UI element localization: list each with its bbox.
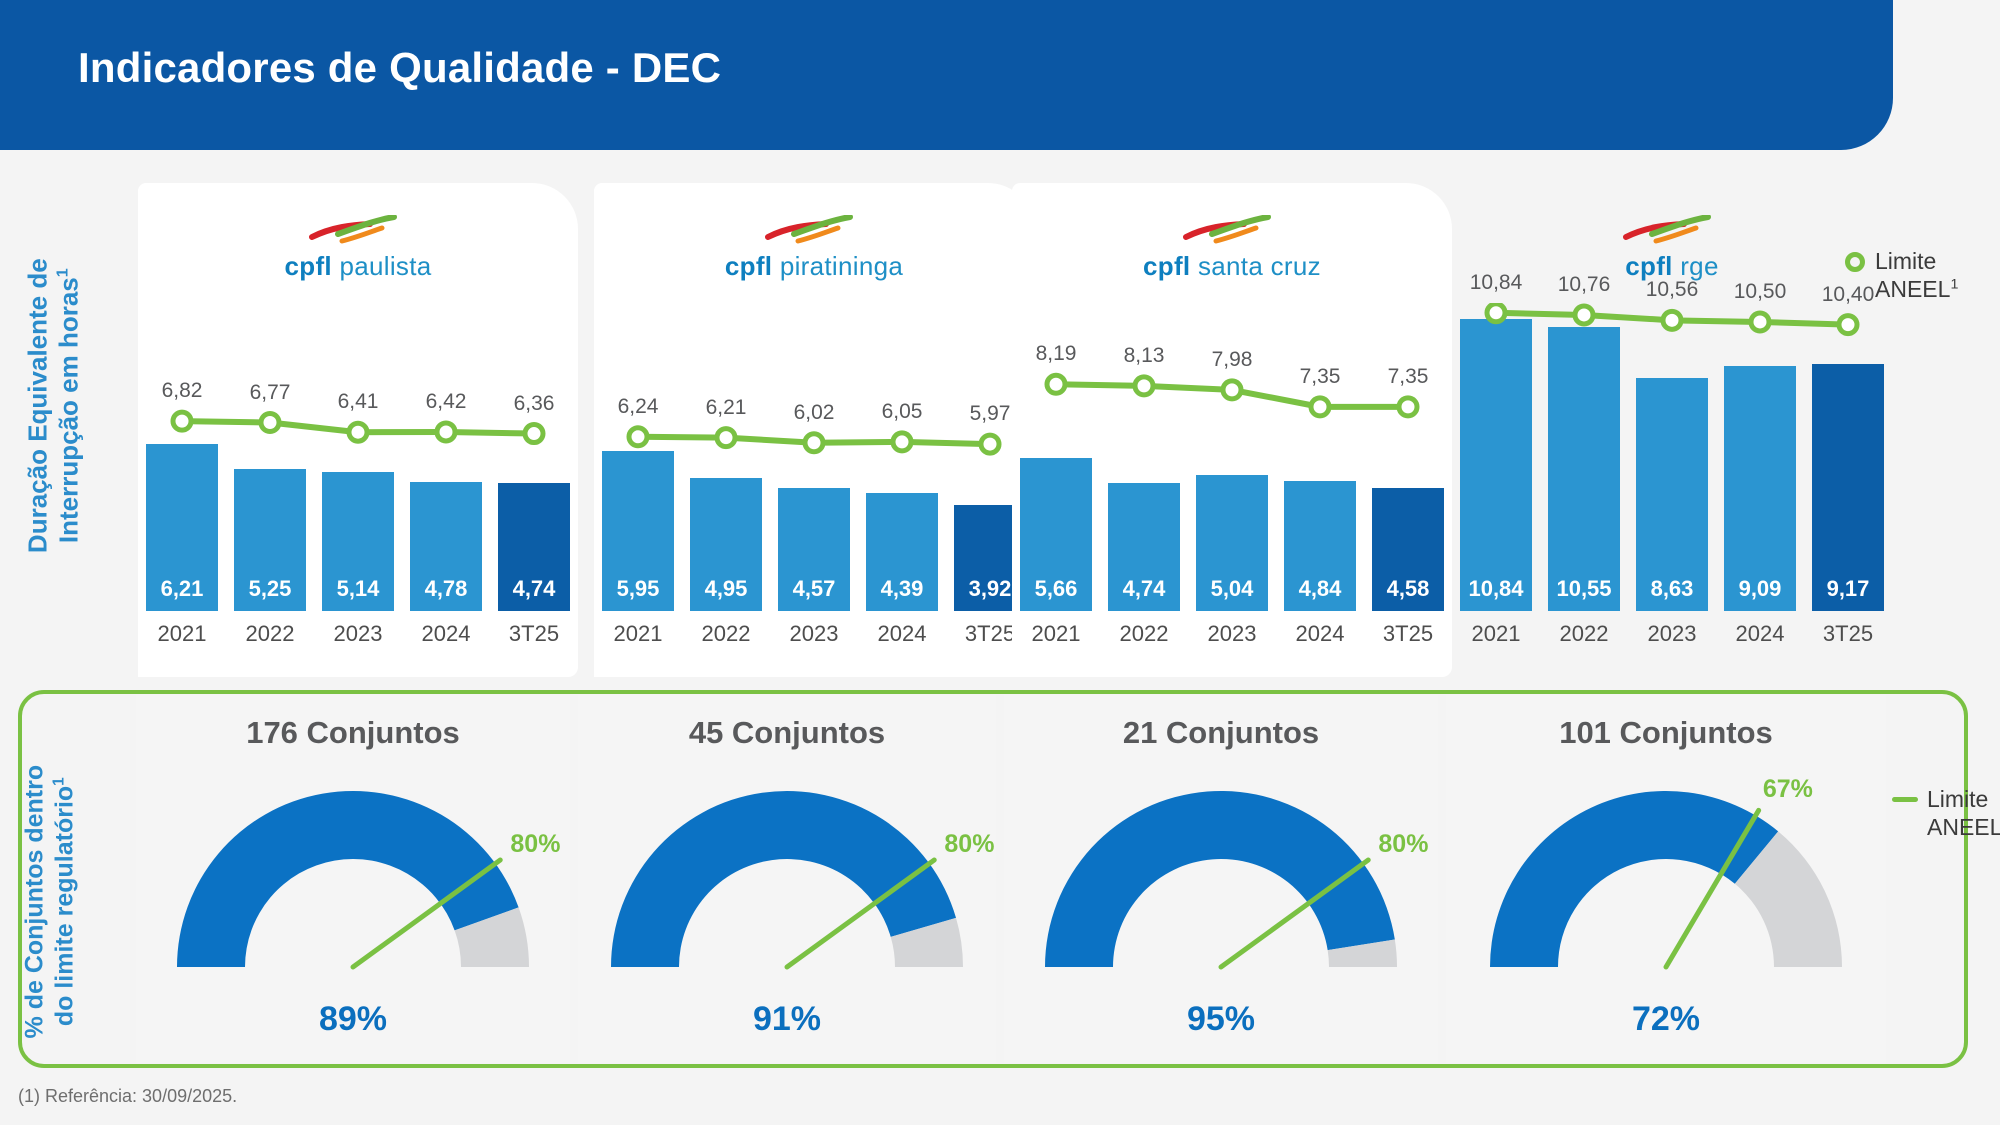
dec-axis-label: Duração Equivalente de Interrupção em ho… [22, 241, 83, 571]
gauge-card-paulista: 176 Conjuntos 80%89% [136, 695, 570, 1063]
limit-value-label: 6,77 [250, 381, 291, 405]
limit-value-label: 6,41 [338, 390, 379, 414]
bar-value-label: 5,14 [322, 576, 394, 602]
bar-value-label: 4,95 [690, 576, 762, 602]
bar-value-label: 9,17 [1812, 576, 1884, 602]
bar: 4,84 [1284, 481, 1356, 611]
bar-value-label: 4,78 [410, 576, 482, 602]
slide-root: Indicadores de Qualidade - DEC Duração E… [0, 0, 2000, 1125]
limit-value-label: 6,24 [618, 395, 659, 419]
bar-group: 10,84 10,84 [1452, 303, 1540, 611]
bar: 4,74 [498, 483, 570, 611]
limit-value-label: 8,19 [1036, 342, 1077, 366]
gauge-value-label: 95% [1004, 1000, 1438, 1039]
x-tick-label: 2021 [594, 621, 682, 647]
bar: 5,95 [602, 451, 674, 611]
x-tick: 2024 [1716, 611, 1804, 653]
brand-logo-text-1: cpfl piratininga [594, 251, 1034, 282]
bar-group: 8,19 5,66 [1012, 303, 1100, 611]
bar: 10,55 [1548, 327, 1620, 611]
bar-value-label: 9,09 [1724, 576, 1796, 602]
gauge-limit-label: 80% [944, 830, 994, 859]
limit-value-label: 6,36 [514, 392, 555, 416]
chart-card-piratininga: cpfl piratininga 6,24 5,95 6,21 4,95 6,0… [594, 183, 1034, 677]
dec-axis-label-sup: 1 [53, 268, 71, 277]
bar: 4,74 [1108, 483, 1180, 611]
bar-group: 6,05 4,39 [858, 303, 946, 611]
x-tick: 2023 [1188, 611, 1276, 653]
brand-logo-text-2: cpfl santa cruz [1012, 251, 1452, 282]
bar-group: 7,98 5,04 [1188, 303, 1276, 611]
x-tick: 3T25 [490, 611, 578, 653]
cpfl-swoosh-icon [764, 215, 864, 249]
x-tick-label: 3T25 [1364, 621, 1452, 647]
legend-top-label: Limite ANEEL1 [1875, 248, 1958, 303]
bar-value-label: 4,74 [1108, 576, 1180, 602]
brand-logo-1: cpfl piratininga [594, 215, 1034, 282]
bar: 4,57 [778, 488, 850, 611]
bar-value-label: 4,58 [1372, 576, 1444, 602]
gauge-value-label: 91% [578, 1000, 996, 1039]
gauge-limit-label: 80% [1378, 830, 1428, 859]
x-tick-label: 3T25 [1804, 621, 1892, 647]
x-tick-label: 2023 [1628, 621, 1716, 647]
bar: 5,66 [1020, 458, 1092, 611]
limit-value-label: 7,98 [1212, 348, 1253, 372]
legend-bottom-line2: ANEEL [1927, 814, 2000, 840]
gauge-card-rge: 101 Conjuntos 67%72% [1446, 695, 1886, 1063]
gauge-filled-arc [1490, 791, 1778, 967]
limit-value-label: 7,35 [1300, 365, 1341, 389]
limit-value-label: 7,35 [1388, 365, 1429, 389]
chart-card-santacruz: cpfl santa cruz 8,19 5,66 8,13 4,74 7,98… [1012, 183, 1452, 677]
x-tick: 2021 [594, 611, 682, 653]
gauge-value-label: 89% [136, 1000, 570, 1039]
bar: 4,58 [1372, 488, 1444, 611]
header-bar: Indicadores de Qualidade - DEC [0, 0, 1893, 150]
bar: 4,78 [410, 482, 482, 611]
bar-value-label: 10,84 [1460, 576, 1532, 602]
gauge-limit-label: 67% [1763, 775, 1813, 804]
x-tick: 2021 [1012, 611, 1100, 653]
x-tick: 2024 [858, 611, 946, 653]
cpfl-swoosh-icon [1182, 215, 1282, 249]
gauge-title: 176 Conjuntos [136, 715, 570, 751]
x-tick-label: 2023 [770, 621, 858, 647]
gauge-title: 45 Conjuntos [578, 715, 996, 751]
bar: 6,21 [146, 444, 218, 611]
legend-limite-aneel-top: Limite ANEEL1 [1845, 248, 1958, 303]
bar-group: 7,35 4,58 [1364, 303, 1452, 611]
x-tick: 2024 [402, 611, 490, 653]
gauge-dial [594, 761, 980, 973]
x-tick: 2022 [1100, 611, 1188, 653]
legend-bottom-label: Limite ANEEL1 [1927, 786, 2000, 841]
gauge-title: 21 Conjuntos [1004, 715, 1438, 751]
x-tick-label: 2022 [682, 621, 770, 647]
bar-value-label: 10,55 [1548, 576, 1620, 602]
x-tick-label: 2022 [1540, 621, 1628, 647]
limit-dash-icon [1892, 797, 1918, 802]
gauge-card-santacruz: 21 Conjuntos 80%95% [1004, 695, 1438, 1063]
conjuntos-axis-label-text: % de Conjuntos dentro do limite regulató… [20, 765, 78, 1039]
bar-group: 10,56 8,63 [1628, 303, 1716, 611]
limit-value-label: 10,56 [1646, 278, 1699, 302]
limit-value-label: 8,13 [1124, 344, 1165, 368]
bar-value-label: 6,21 [146, 576, 218, 602]
chart-card-rge: cpfl rge 10,84 10,84 10,76 10,55 10,56 8… [1452, 183, 1892, 677]
x-tick-label: 2023 [314, 621, 402, 647]
x-tick-label: 2021 [1452, 621, 1540, 647]
x-tick-label: 2022 [1100, 621, 1188, 647]
bar: 5,14 [322, 472, 394, 611]
legend-top-line1: Limite [1875, 248, 1936, 274]
x-tick: 2023 [1628, 611, 1716, 653]
bar-group: 6,82 6,21 [138, 303, 226, 611]
bar-group: 6,36 4,74 [490, 303, 578, 611]
bar-value-label: 5,04 [1196, 576, 1268, 602]
x-tick: 3T25 [1364, 611, 1452, 653]
bar: 4,95 [690, 478, 762, 611]
bar-group: 10,40 9,17 [1804, 303, 1892, 611]
conjuntos-axis-label: % de Conjuntos dentro do limite regulató… [20, 752, 79, 1052]
bar-group: 10,76 10,55 [1540, 303, 1628, 611]
x-tick: 2023 [314, 611, 402, 653]
gauge-dial [1028, 761, 1414, 973]
bar: 5,25 [234, 469, 306, 611]
limit-ring-icon [1845, 252, 1865, 272]
legend-bottom-line1: Limite [1927, 786, 1988, 812]
limit-value-label: 6,05 [882, 400, 923, 424]
x-tick: 2022 [226, 611, 314, 653]
gauge-dial [160, 761, 546, 973]
bar-value-label: 4,57 [778, 576, 850, 602]
bar-group: 7,35 4,84 [1276, 303, 1364, 611]
x-tick-label: 2023 [1188, 621, 1276, 647]
bar-chart-3: 10,84 10,84 10,76 10,55 10,56 8,63 10,50… [1452, 303, 1892, 653]
bar-value-label: 8,63 [1636, 576, 1708, 602]
limit-value-label: 6,42 [426, 390, 467, 414]
bar: 8,63 [1636, 378, 1708, 611]
limit-value-label: 5,97 [970, 402, 1011, 426]
limit-value-label: 6,02 [794, 401, 835, 425]
x-tick: 2024 [1276, 611, 1364, 653]
gauge-value-label: 72% [1446, 1000, 1886, 1039]
limit-value-label: 6,82 [162, 379, 203, 403]
x-tick-label: 2021 [138, 621, 226, 647]
x-tick: 2023 [770, 611, 858, 653]
limit-value-label: 10,76 [1558, 273, 1611, 297]
bar-chart-2: 8,19 5,66 8,13 4,74 7,98 5,04 7,35 4,84 [1012, 303, 1452, 653]
legend-top-sup: 1 [1950, 276, 1958, 292]
brand-logo-0: cpfl paulista [138, 215, 578, 282]
bar-value-label: 5,25 [234, 576, 306, 602]
page-title: Indicadores de Qualidade - DEC [78, 44, 721, 92]
bar: 5,04 [1196, 475, 1268, 611]
conjuntos-axis-label-sup: 1 [50, 777, 67, 786]
x-tick-label: 2022 [226, 621, 314, 647]
legend-top-line2: ANEEL [1875, 276, 1950, 302]
cpfl-swoosh-icon [308, 215, 408, 249]
brand-logo-2: cpfl santa cruz [1012, 215, 1452, 282]
bar-value-label: 4,39 [866, 576, 938, 602]
bar-chart-0: 6,82 6,21 6,77 5,25 6,41 5,14 6,42 4,78 [138, 303, 578, 653]
bar-group: 6,24 5,95 [594, 303, 682, 611]
bar-group: 6,41 5,14 [314, 303, 402, 611]
x-tick-label: 2024 [1716, 621, 1804, 647]
bar: 9,17 [1812, 364, 1884, 611]
x-tick: 3T25 [1804, 611, 1892, 653]
limit-value-label: 10,50 [1734, 280, 1787, 304]
bar: 4,39 [866, 493, 938, 611]
bar-value-label: 5,66 [1020, 576, 1092, 602]
limit-value-label: 10,84 [1470, 271, 1523, 295]
x-tick: 2022 [1540, 611, 1628, 653]
bar-group: 6,77 5,25 [226, 303, 314, 611]
chart-card-paulista: cpfl paulista 6,82 6,21 6,77 5,25 6,41 5… [138, 183, 578, 677]
cpfl-swoosh-icon [1622, 215, 1722, 249]
bar-group: 6,42 4,78 [402, 303, 490, 611]
gauge-title: 101 Conjuntos [1446, 715, 1886, 751]
bar-chart-1: 6,24 5,95 6,21 4,95 6,02 4,57 6,05 4,39 [594, 303, 1034, 653]
bar: 10,84 [1460, 319, 1532, 611]
x-tick: 2022 [682, 611, 770, 653]
legend-limite-aneel-bottom: Limite ANEEL1 [1892, 786, 2000, 841]
bar-value-label: 4,84 [1284, 576, 1356, 602]
bar-group: 10,50 9,09 [1716, 303, 1804, 611]
bar-group: 8,13 4,74 [1100, 303, 1188, 611]
x-tick: 2021 [138, 611, 226, 653]
gauge-card-piratininga: 45 Conjuntos 80%91% [578, 695, 996, 1063]
footnote: (1) Referência: 30/09/2025. [18, 1086, 237, 1107]
bar: 9,09 [1724, 366, 1796, 611]
limit-value-label: 6,21 [706, 396, 747, 420]
bar-group: 6,21 4,95 [682, 303, 770, 611]
x-tick-label: 2024 [858, 621, 946, 647]
x-tick-label: 3T25 [490, 621, 578, 647]
x-tick: 2021 [1452, 611, 1540, 653]
bar-value-label: 4,74 [498, 576, 570, 602]
bar-group: 6,02 4,57 [770, 303, 858, 611]
gauge-limit-label: 80% [510, 830, 560, 859]
dec-axis-label-text: Duração Equivalente de Interrupção em ho… [22, 258, 83, 553]
x-tick-label: 2024 [1276, 621, 1364, 647]
x-tick-label: 2024 [402, 621, 490, 647]
bar-value-label: 5,95 [602, 576, 674, 602]
brand-logo-text-0: cpfl paulista [138, 251, 578, 282]
x-tick-label: 2021 [1012, 621, 1100, 647]
